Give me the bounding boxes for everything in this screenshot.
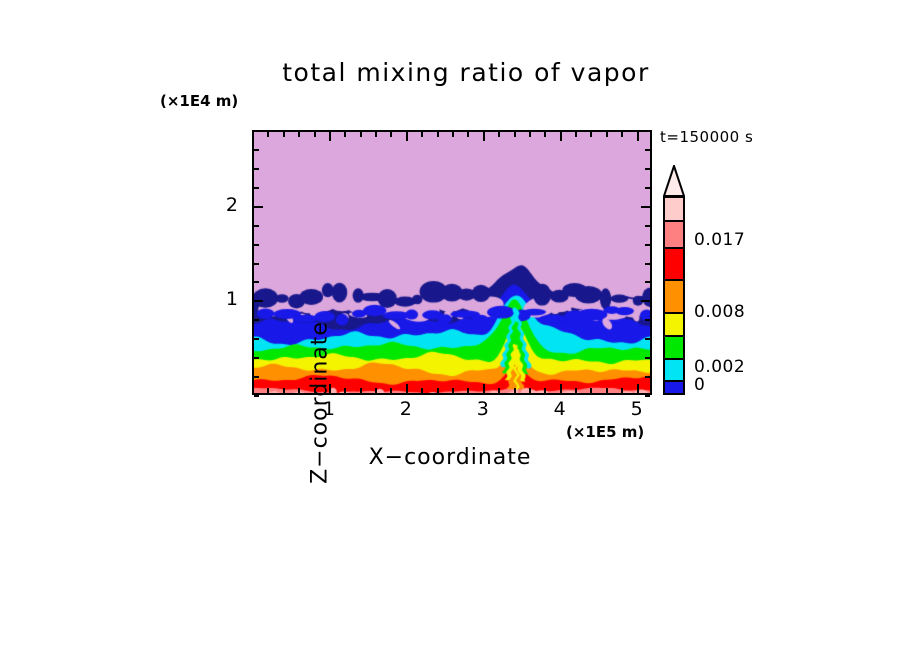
colorbar-arrow-top (663, 165, 685, 197)
colorbar-tick-label: 0.002 (694, 357, 745, 377)
x-axis-units-label: (×1E5 m) (566, 423, 644, 441)
colorbar-band (665, 198, 683, 222)
x-tick-label: 2 (386, 398, 426, 420)
y-axis-title: Z−coordinate (308, 293, 333, 513)
colorbar-band (665, 360, 683, 382)
x-tick-label: 3 (463, 398, 503, 420)
colorbar-band (665, 249, 683, 281)
colorbar-band (665, 281, 683, 314)
colorbar-tick-label: 0 (694, 375, 705, 395)
time-annotation: t=150000 s (660, 128, 753, 146)
x-tick-label: 4 (540, 398, 580, 420)
x-axis-title: X−coordinate (0, 445, 904, 470)
x-tick-label: 5 (617, 398, 657, 420)
colorbar (663, 196, 685, 395)
colorbar-tick-label: 0.017 (694, 230, 745, 250)
colorbar-tick-label: 0.008 (694, 302, 745, 322)
page-title: total mixing ratio of vapor (0, 58, 904, 87)
y-tick-label: 2 (216, 194, 238, 216)
colorbar-band (665, 222, 683, 249)
colorbar-band (665, 337, 683, 360)
chart-title-text: total mixing ratio of vapor (282, 58, 650, 87)
y-tick-label: 1 (216, 288, 238, 310)
tick-mark (645, 395, 650, 397)
y-axis-units-label: (×1E4 m) (160, 92, 238, 110)
tick-mark (254, 395, 259, 397)
colorbar-band (665, 382, 683, 395)
colorbar-band (665, 314, 683, 337)
